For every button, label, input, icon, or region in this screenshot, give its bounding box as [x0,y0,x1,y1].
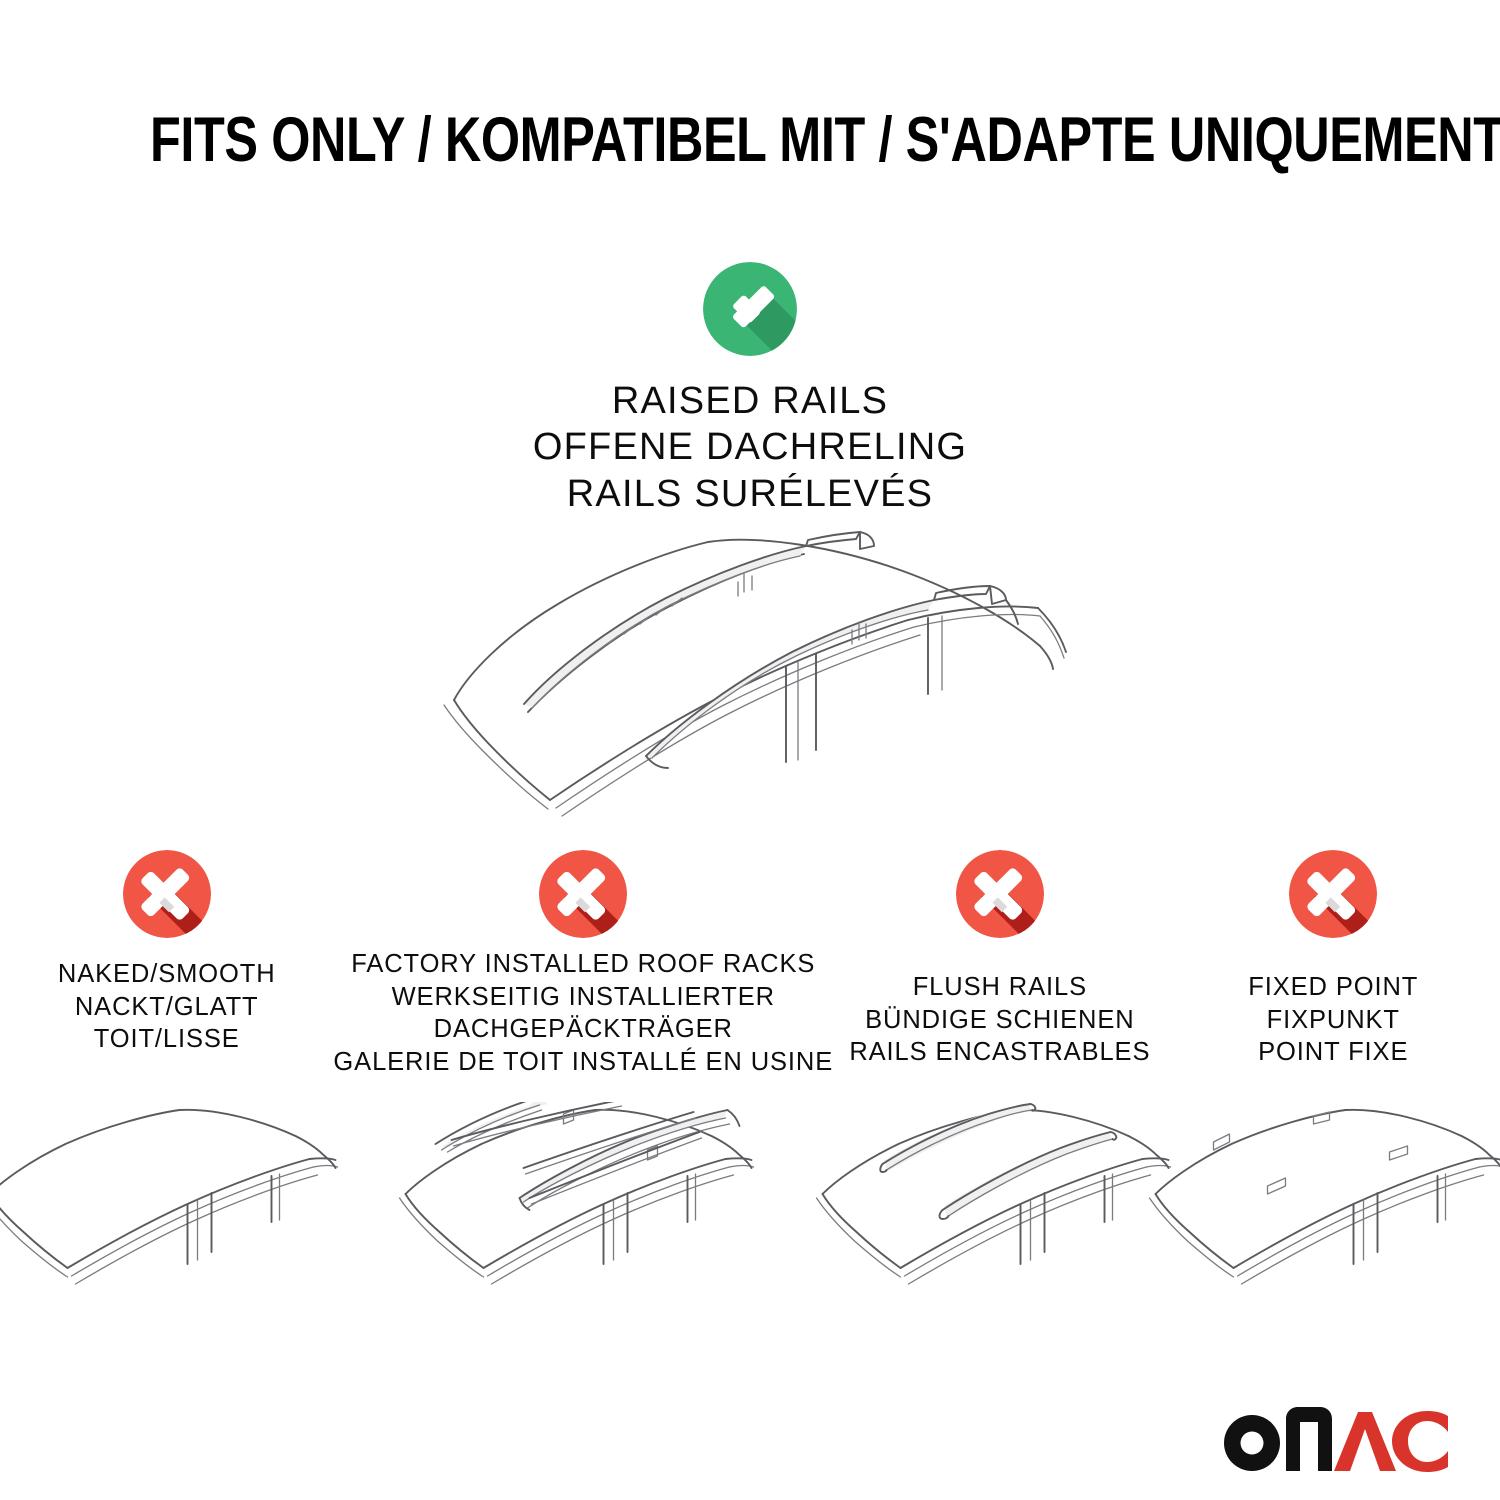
label-line-fr: POINT FIXE [1248,1036,1418,1069]
page-title: FITS ONLY / KOMPATIBEL MIT / S'ADAPTE UN… [150,104,1350,176]
compatible-label: RAISED RAILS OFFENE DACHRELING RAILS SUR… [0,378,1500,517]
car-roof-with-raised-rails-illustration [408,512,1108,842]
compatible-label-line-fr: RAILS SURÉLEVÉS [0,471,1500,517]
car-roof-factory-installed-racks-illustration [396,1102,771,1332]
label-line-de-2: DACHGEPÄCKTRÄGER [333,1013,833,1046]
label-line-fr: GALERIE DE TOIT INSTALLÉ EN USINE [333,1046,833,1079]
incompatible-item-fixed-point: FIXED POINT FIXPUNKT POINT FIXE [1167,850,1500,1330]
label-line-de: BÜNDIGE SCHIENEN [849,1004,1150,1037]
car-roof-flush-rails-illustration [812,1102,1187,1332]
cross-circle-icon [1289,850,1377,938]
label-line-de: NACKT/GLATT [58,991,276,1024]
cross-circle-icon [539,850,627,938]
compatible-label-line-de: OFFENE DACHRELING [0,424,1500,470]
incompatible-section: NAKED/SMOOTH NACKT/GLATT TOIT/LISSE [0,850,1500,1330]
label-line-en: FLUSH RAILS [849,971,1150,1004]
label-line-de: FIXPUNKT [1248,1004,1418,1037]
label-line-en: FIXED POINT [1248,971,1418,1004]
label-line-fr: TOIT/LISSE [58,1023,276,1056]
incompatible-label: FLUSH RAILS BÜNDIGE SCHIENEN RAILS ENCAS… [849,971,1150,1069]
cross-circle-icon [123,850,211,938]
label-line-en: NAKED/SMOOTH [58,958,276,991]
label-line-de-1: WERKSEITIG INSTALLIERTER [333,981,833,1014]
incompatible-item-flush-rails: FLUSH RAILS BÜNDIGE SCHIENEN RAILS ENCAS… [833,850,1166,1330]
car-roof-naked-smooth-illustration [0,1102,354,1332]
cross-circle-icon [956,850,1044,938]
omac-logo [1222,1406,1448,1472]
check-circle-icon [703,262,797,356]
compatible-label-line-en: RAISED RAILS [0,378,1500,424]
incompatible-label: FACTORY INSTALLED ROOF RACKS WERKSEITIG … [333,948,833,1079]
label-line-en: FACTORY INSTALLED ROOF RACKS [333,948,833,981]
label-line-fr: RAILS ENCASTRABLES [849,1036,1150,1069]
incompatible-item-factory-racks: FACTORY INSTALLED ROOF RACKS WERKSEITIG … [333,850,833,1330]
compatible-section: RAISED RAILS OFFENE DACHRELING RAILS SUR… [0,262,1500,517]
incompatible-label: NAKED/SMOOTH NACKT/GLATT TOIT/LISSE [58,958,276,1056]
car-roof-fixed-point-illustration [1146,1102,1500,1332]
incompatible-label: FIXED POINT FIXPUNKT POINT FIXE [1248,971,1418,1069]
incompatible-item-naked-smooth: NAKED/SMOOTH NACKT/GLATT TOIT/LISSE [0,850,333,1330]
